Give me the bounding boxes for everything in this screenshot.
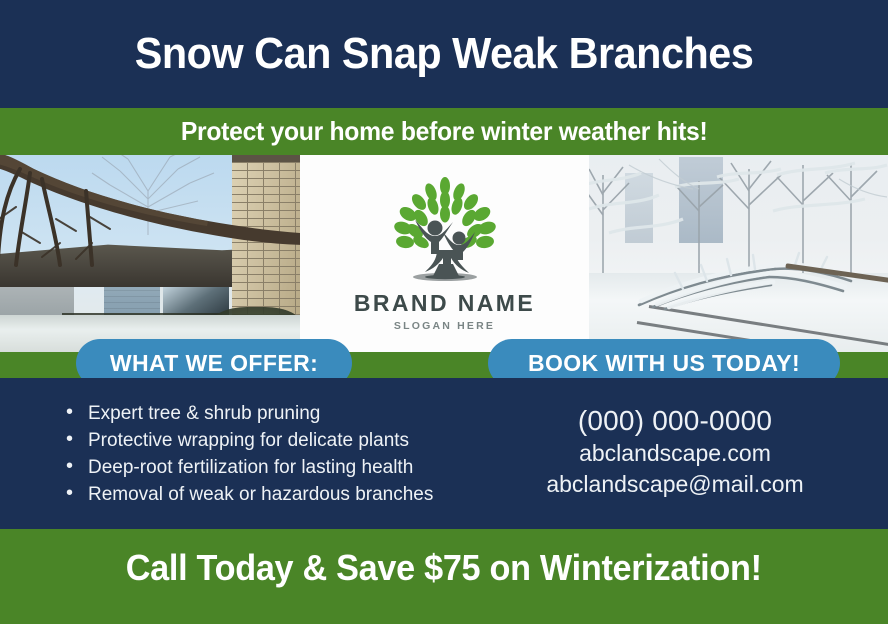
contact-block: (000) 000-0000 abclandscape.com abclands… bbox=[490, 404, 860, 500]
list-item: Protective wrapping for delicate plants bbox=[60, 427, 490, 454]
fallen-tree-trunk bbox=[0, 155, 300, 267]
page-title: Snow Can Snap Weak Branches bbox=[135, 29, 754, 79]
subheadline-band: Protect your home before winter weather … bbox=[0, 108, 888, 155]
logo-panel: BRAND NAME SLOGAN HERE bbox=[300, 155, 589, 352]
contact-website[interactable]: abclandscape.com bbox=[490, 438, 860, 469]
snowy-park-fallen-branches-photo bbox=[589, 155, 888, 352]
brand-slogan: SLOGAN HERE bbox=[394, 320, 495, 332]
cta-banner: Call Today & Save $75 on Winterization! bbox=[0, 529, 888, 624]
list-item: Deep-root fertilization for lasting heal… bbox=[60, 454, 490, 481]
contact-phone[interactable]: (000) 000-0000 bbox=[490, 404, 860, 438]
list-item: Expert tree & shrub pruning bbox=[60, 400, 490, 427]
tree-with-people-icon bbox=[381, 176, 509, 288]
body-area: Expert tree & shrub pruning Protective w… bbox=[0, 378, 888, 529]
winter-tree-service-flyer: Snow Can Snap Weak Branches Protect your… bbox=[0, 0, 888, 624]
cta-text: Call Today & Save $75 on Winterization! bbox=[126, 547, 762, 589]
contact-email[interactable]: abclandscape@mail.com bbox=[490, 469, 860, 500]
list-item: Removal of weak or hazardous branches bbox=[60, 481, 490, 508]
brand-name: BRAND NAME bbox=[354, 290, 535, 317]
photo-strip: BRAND NAME SLOGAN HERE bbox=[0, 155, 888, 352]
headline-band: Snow Can Snap Weak Branches bbox=[0, 0, 888, 108]
fallen-snowy-limbs bbox=[635, 247, 865, 311]
subheadline: Protect your home before winter weather … bbox=[181, 116, 708, 147]
services-list: Expert tree & shrub pruning Protective w… bbox=[60, 400, 490, 508]
fallen-tree-on-house-photo bbox=[0, 155, 300, 352]
